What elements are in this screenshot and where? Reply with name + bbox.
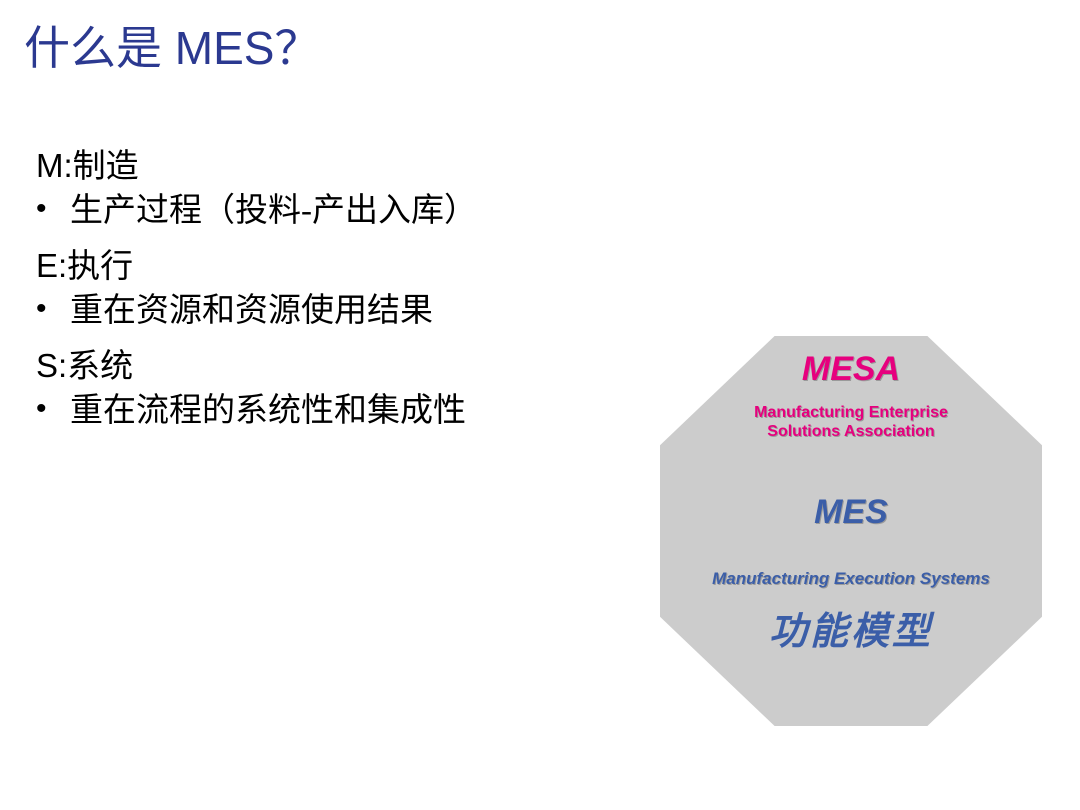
mes-title: MES bbox=[660, 493, 1042, 532]
bullet-dot-icon: • bbox=[36, 290, 47, 327]
bullet-text: 重在流程的系统性和集成性 bbox=[70, 391, 466, 432]
mesa-subtitle-line1: Manufacturing Enterprise bbox=[754, 404, 948, 421]
lead-line-m: M:制造 bbox=[36, 146, 676, 187]
lead-line-e: E:执行 bbox=[36, 246, 676, 287]
slide: 什么是 MES？ M:制造 • 生产过程（投料-产出入库） E:执行 • 重在资… bbox=[0, 0, 1080, 810]
bullet-text: 重在资源和资源使用结果 bbox=[70, 291, 433, 332]
bullet-dot-icon: • bbox=[36, 390, 47, 427]
mesa-subtitle: Manufacturing Enterprise Solutions Assoc… bbox=[660, 404, 1042, 442]
mes-subtitle: Manufacturing Execution Systems bbox=[660, 569, 1042, 589]
page-title: 什么是 MES？ bbox=[24, 12, 320, 78]
mes-chinese-label: 功能模型 bbox=[660, 600, 1042, 655]
body-content: M:制造 • 生产过程（投料-产出入库） E:执行 • 重在资源和资源使用结果 … bbox=[36, 146, 676, 445]
bullet-text: 生产过程（投料-产出入库） bbox=[70, 191, 477, 232]
bullet-item-2: • 重在资源和资源使用结果 bbox=[36, 291, 676, 332]
bullet-item-1: • 生产过程（投料-产出入库） bbox=[36, 191, 676, 232]
mesa-subtitle-line2: Solutions Association bbox=[767, 423, 934, 440]
bullet-dot-icon: • bbox=[36, 190, 47, 227]
mes-octagon-graphic: MESA Manufacturing Enterprise Solutions … bbox=[660, 336, 1042, 726]
bullet-item-3: • 重在流程的系统性和集成性 bbox=[36, 391, 676, 432]
lead-line-s: S:系统 bbox=[36, 346, 676, 387]
mesa-title: MESA bbox=[660, 350, 1042, 389]
